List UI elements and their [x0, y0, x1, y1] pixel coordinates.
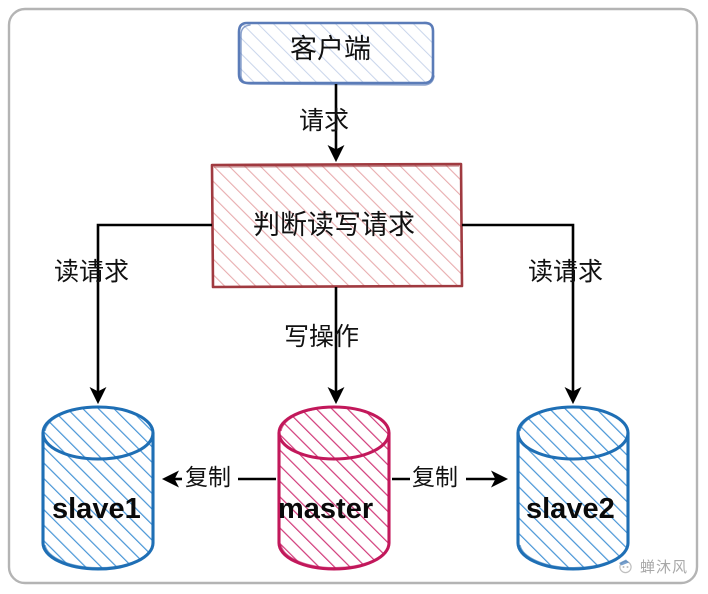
watermark: 蝉沐风: [617, 556, 688, 577]
watermark-text: 蝉沐风: [640, 556, 688, 577]
node-master[interactable]: [279, 407, 389, 569]
node-client-label: 客户端: [290, 36, 371, 63]
node-slave1[interactable]: [43, 407, 153, 569]
edge-master-to-slave2-label: 复制: [412, 467, 458, 490]
node-slave2-label: slave2: [526, 495, 615, 524]
watermark-logo-icon: [617, 558, 634, 575]
edge-router-to-master-label: 写操作: [284, 324, 359, 349]
node-slave2[interactable]: [518, 407, 628, 569]
node-router-label: 判断读写请求: [253, 212, 415, 239]
node-master-label: master: [278, 495, 373, 524]
diagram-canvas: 客户端 判断读写请求 请求 读请求 写操作 读请求 复制 复制 slave1 m…: [0, 0, 708, 594]
node-slave1-label: slave1: [52, 495, 141, 524]
edge-client-to-router-label: 请求: [299, 108, 349, 133]
edge-router-to-slave1-label: 读请求: [54, 259, 129, 284]
edge-master-to-slave1-label: 复制: [185, 467, 231, 490]
edge-router-to-slave2-label: 读请求: [528, 259, 603, 284]
